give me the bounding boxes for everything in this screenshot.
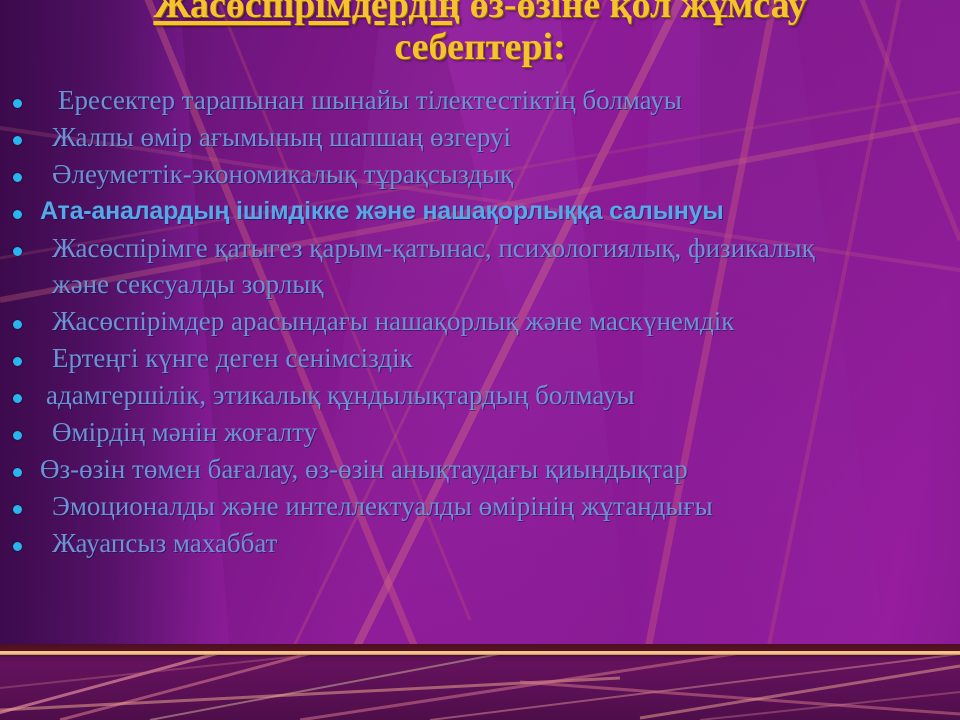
list-item: Эмоционалды және интеллектуалды өмірінің… [0, 488, 960, 524]
list-item: Ересектер тарапынан шынайы тілектестікті… [0, 82, 960, 118]
list-item-label: Жасөспірімдер арасындағы нашақорлық және… [52, 303, 734, 339]
list-item: Өмірдің мәнін жоғалту [0, 414, 960, 450]
list-item: Жауапсыз махаббат [0, 525, 960, 561]
list-item-label: Ертеңгі күнге деген сенімсіздік [52, 340, 413, 376]
list-item: Жасөспірімдер арасындағы нашақорлық және… [0, 303, 960, 339]
bullet-dot-icon [0, 377, 34, 408]
list-item: Ертеңгі күнге деген сенімсіздік [0, 340, 960, 376]
bullet-dot-icon [0, 340, 34, 371]
bullet-dot-icon [0, 156, 34, 187]
title-underlined-word: Жасөспірімдердің [153, 0, 460, 26]
list-item: Өз-өзін төмен бағалау, өз-өзін анықтауда… [0, 451, 960, 487]
title-line-1-rest: өз-өзіне қол жұмсау [460, 0, 807, 26]
footer-streaks [0, 648, 960, 720]
title-line-2: себептері: [0, 26, 960, 68]
list-item: Жалпы өмір ағымының шапшаң өзгеруі [0, 119, 960, 155]
bullet-dot-icon [0, 525, 34, 556]
list-item: Ата-аналардың ішімдікке және нашақорлыққ… [0, 193, 960, 229]
bullet-dot-icon [0, 119, 34, 150]
list-item-label: Ата-аналардың ішімдікке және нашақорлыққ… [40, 193, 723, 229]
bullet-dot-icon [0, 230, 34, 261]
list-item-label: Өз-өзін төмен бағалау, өз-өзін анықтауда… [40, 451, 688, 487]
list-item-label: адамгершілік, этикалық құндылықтардың бо… [46, 377, 635, 413]
slide-canvas: Жасөспірімдердің өз-өзіне қол жұмсау себ… [0, 0, 960, 720]
slide-title: Жасөспірімдердің өз-өзіне қол жұмсау себ… [0, 0, 960, 68]
list-item-label: Жауапсыз махаббат [52, 525, 277, 561]
list-item-label: Жасөспірімге қатыгез қарым-қатынас, псих… [52, 230, 842, 302]
list-item-label: Әлеуметтік-экономикалық тұрақсыздық [52, 156, 513, 192]
bullet-list: Ересектер тарапынан шынайы тілектестікті… [0, 82, 960, 562]
bullet-dot-icon [0, 451, 34, 482]
list-item: адамгершілік, этикалық құндылықтардың бо… [0, 377, 960, 413]
bullet-dot-icon [0, 488, 34, 519]
footer-divider-gold [0, 651, 960, 655]
title-line-1: Жасөспірімдердің өз-өзіне қол жұмсау [0, 0, 960, 26]
list-item-label: Ересектер тарапынан шынайы тілектестікті… [58, 82, 682, 118]
footer-decorative-band [0, 648, 960, 720]
list-item-label: Эмоционалды және интеллектуалды өмірінің… [52, 488, 713, 524]
bullet-dot-icon [0, 82, 34, 113]
list-item: Жасөспірімге қатыгез қарым-қатынас, псих… [0, 230, 960, 302]
bullet-dot-icon [0, 414, 34, 445]
list-item-label: Өмірдің мәнін жоғалту [52, 414, 317, 450]
bullet-dot-icon [0, 303, 34, 334]
footer-divider-dark [0, 644, 960, 651]
list-item-label: Жалпы өмір ағымының шапшаң өзгеруі [52, 119, 511, 155]
bullet-dot-icon [0, 193, 34, 224]
list-item: Әлеуметтік-экономикалық тұрақсыздық [0, 156, 960, 192]
